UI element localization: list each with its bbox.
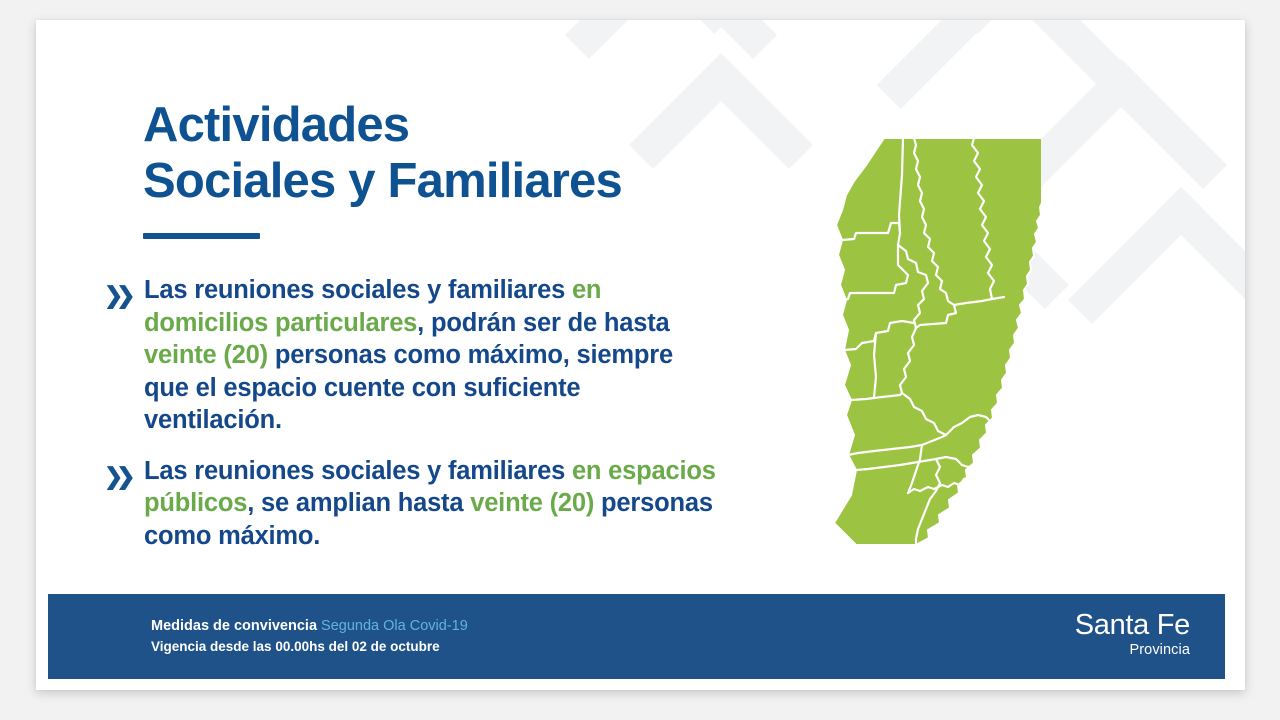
footer-campaign-title: Medidas de convivencia [151,618,317,634]
bullet-highlight-text: veinte (20) [144,341,268,369]
bullet-plain-text: , podrán ser de hasta [417,309,669,337]
footer-campaign-line: Medidas de convivencia Segunda Ola Covid… [151,617,468,636]
brand-subtitle: Provincia [1075,641,1190,659]
screen: Actividades Sociales y Familiares ❯❯Las … [0,0,1280,720]
footer-campaign-subtitle: Segunda Ola Covid-19 [321,618,468,634]
bullet-highlight-text: veinte (20) [470,489,594,517]
page-title: Actividades Sociales y Familiares [143,97,622,209]
brand-logo: Santa Fe Provincia [1075,609,1190,659]
bullet-item: ❯❯Las reuniones sociales y familiares en… [104,274,724,437]
bullet-plain-text: Las reuniones sociales y familiares [144,276,572,304]
footer-campaign-text: Medidas de convivencia Segunda Ola Covid… [151,617,468,656]
bullet-plain-text: , se amplian hasta [247,489,470,517]
bullet-item: ❯❯Las reuniones sociales y familiares en… [104,455,724,553]
footer-bar: Medidas de convivencia Segunda Ola Covid… [48,594,1225,679]
brand-name: Santa Fe [1075,609,1190,641]
bullet-plain-text: Las reuniones sociales y familiares [144,457,572,485]
chevron-watermark-icon [629,53,813,237]
footer-validity-text: Vigencia desde las 00.00hs del 02 de oct… [151,637,468,656]
page-title-line-1: Actividades [143,97,622,153]
chevron-watermark-icon [1068,187,1245,413]
bullet-text: Las reuniones sociales y familiares en e… [144,455,724,553]
slide-canvas: Actividades Sociales y Familiares ❯❯Las … [36,20,1245,690]
title-underline-rule [143,233,260,239]
chevron-watermark-icon [1015,59,1227,271]
bullet-text: Las reuniones sociales y familiares en d… [144,274,724,437]
double-chevron-right-icon: ❯❯ [104,465,129,488]
double-chevron-right-icon: ❯❯ [104,284,129,307]
page-title-line-2: Sociales y Familiares [143,153,622,209]
santa-fe-province-map [796,115,1041,560]
bullet-list: ❯❯Las reuniones sociales y familiares en… [104,274,724,570]
